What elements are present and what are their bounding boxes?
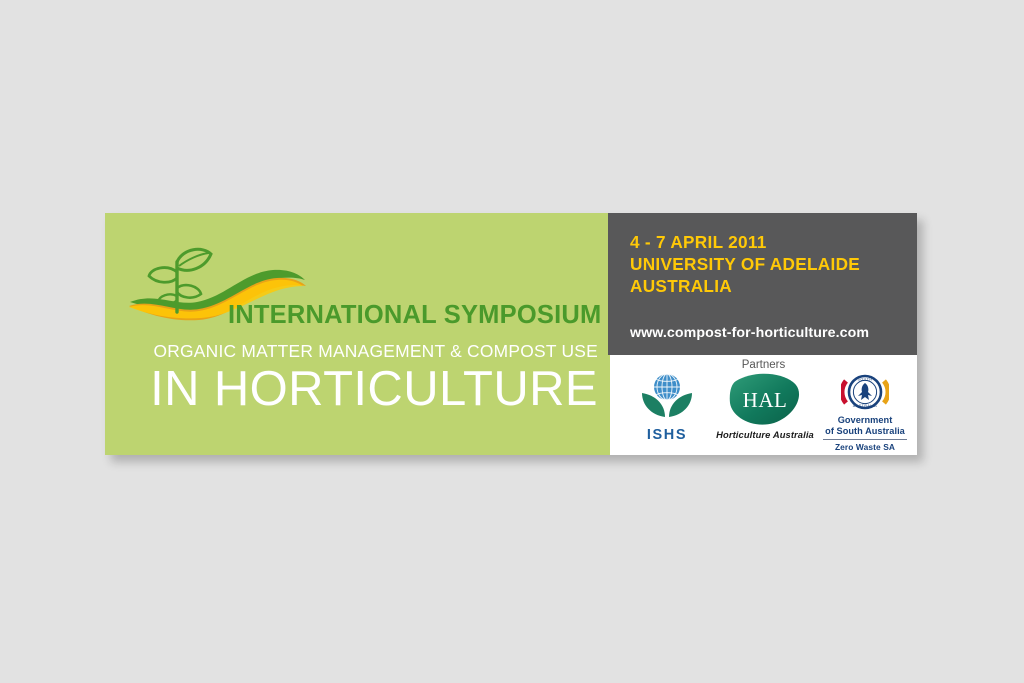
globe-with-leaves-icon [639,371,695,425]
partners-heading: Partners [610,359,917,371]
gov-caption-line-1: Government [838,415,893,425]
event-country: AUSTRALIA [630,276,732,297]
svg-text:HAL: HAL [743,388,788,412]
banner-subtitle: ORGANIC MATTER MANAGEMENT & COMPOST USE [125,341,598,362]
partner-logo-government-sa[interactable]: SOUTH AUSTRALIA Government of South Aust… [818,371,912,452]
divider [823,439,907,440]
partner-caption-hal: Horticulture Australia [713,429,817,440]
banner-right-column: 4 - 7 APRIL 2011 UNIVERSITY OF ADELAIDE … [608,213,917,455]
state-crest-icon: SOUTH AUSTRALIA [841,371,889,413]
banner-left-panel: INTERNATIONAL SYMPOSIUM ORGANIC MATTER M… [105,213,608,455]
partner-logo-hal[interactable]: HAL Horticulture Australia [713,371,817,440]
symposium-heading: INTERNATIONAL SYMPOSIUM [228,301,598,330]
page-title: IN HORTICULTURE [125,363,598,416]
conference-banner: INTERNATIONAL SYMPOSIUM ORGANIC MATTER M… [105,213,917,455]
partner-caption-government-sa: Government of South Australia [818,415,912,436]
event-venue: UNIVERSITY OF ADELAIDE [630,254,860,275]
leaf-with-hal-icon: HAL [724,371,806,427]
partners-panel: Partners [610,355,917,455]
svg-text:AUSTRALIA: AUSTRALIA [853,404,878,408]
event-date: 4 - 7 APRIL 2011 [630,232,767,253]
partner-subcaption-zero-waste-sa: Zero Waste SA [818,442,912,452]
partner-caption-ishs: ISHS [624,427,710,443]
event-website-url[interactable]: www.compost-for-horticulture.com [630,325,869,341]
svg-text:SOUTH: SOUTH [857,378,872,382]
event-info-panel: 4 - 7 APRIL 2011 UNIVERSITY OF ADELAIDE … [608,213,917,355]
gov-caption-line-2: of South Australia [825,426,905,436]
partner-logo-ishs[interactable]: ISHS [624,371,710,443]
